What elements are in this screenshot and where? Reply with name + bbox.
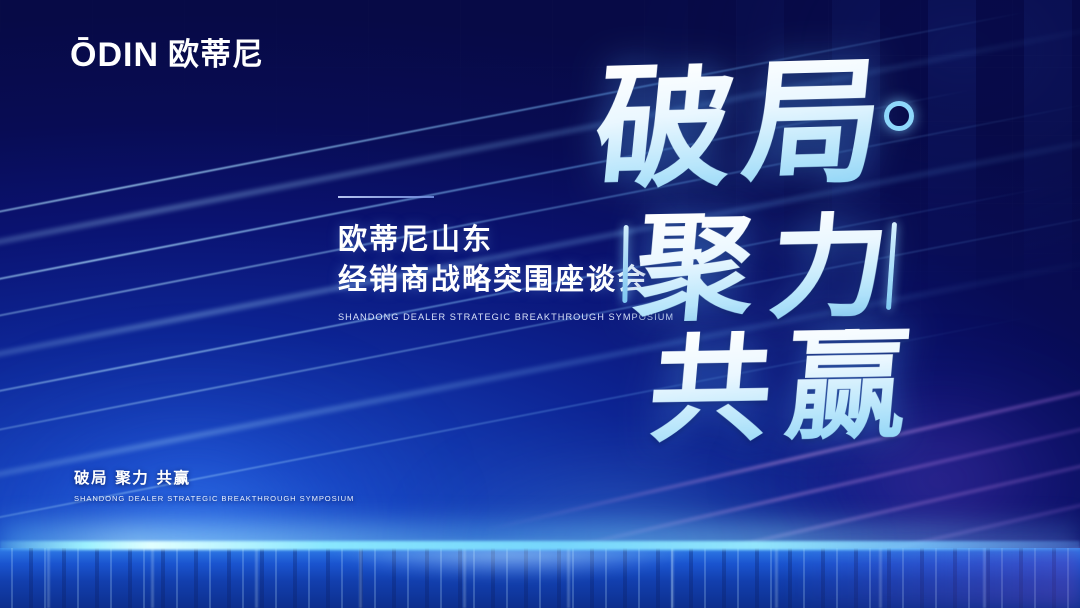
footer-slogan-en: SHANDONG DEALER STRATEGIC BREAKTHROUGH S…: [74, 494, 354, 503]
event-title-line1: 欧蒂尼山东: [338, 220, 638, 258]
title-accent-rule: [338, 196, 434, 198]
ground-right-purple-wash: [780, 548, 1080, 608]
horizon-light-line: [0, 541, 1080, 550]
background-checker-pattern-topright: [640, 0, 1080, 290]
odin-chinese-name: 欧蒂尼: [168, 40, 264, 71]
event-title-block: 欧蒂尼山东 经销商战略突围座谈会 SHANDONG DEALER STRATEG…: [338, 196, 638, 322]
brand-logo[interactable]: ŌDIN 欧蒂尼: [70, 38, 264, 72]
event-subtitle-english: SHANDONG DEALER STRATEGIC BREAKTHROUGH S…: [338, 312, 638, 322]
footer-slogan-cn: 破局 聚力 共赢: [74, 466, 354, 488]
footer-strapline: 破局 聚力 共赢 SHANDONG DEALER STRATEGIC BREAK…: [74, 466, 354, 503]
event-title-line2: 经销商战略突围座谈会: [338, 260, 638, 298]
event-backdrop-poster: ŌDIN 欧蒂尼 欧蒂尼山东 经销商战略突围座谈会 SHANDONG DEALE…: [0, 0, 1080, 608]
odin-wordmark: ŌDIN: [70, 38, 159, 72]
ground-center-shine: [300, 548, 720, 608]
